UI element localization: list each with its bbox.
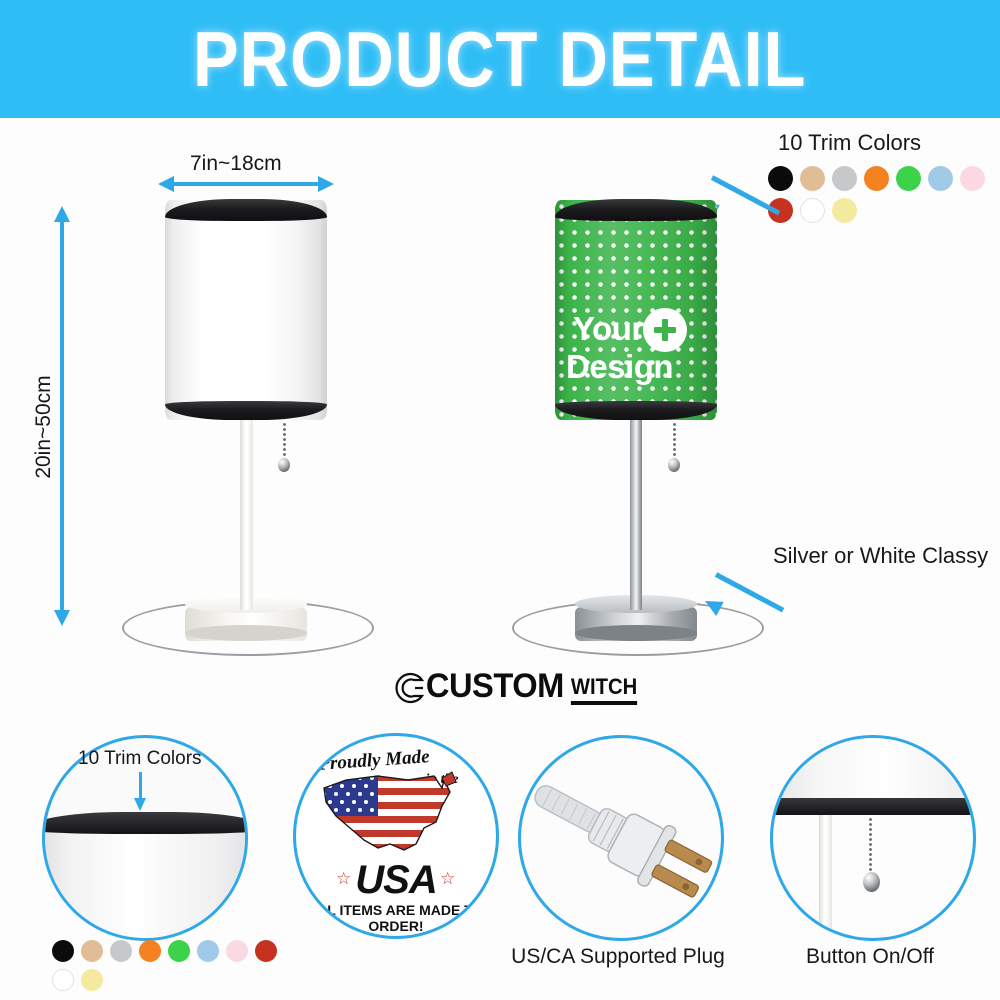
switch-pull-chain[interactable] — [869, 817, 872, 879]
trim-colors-top-label: 10 Trim Colors — [778, 130, 921, 156]
swatch-tan[interactable] — [81, 940, 103, 962]
logo-custom-text: CUSTOM — [426, 667, 564, 706]
brand-logo: CUSTOM WITCH — [392, 667, 640, 706]
swatch-pink[interactable] — [226, 940, 248, 962]
white-lamp-trim-top — [165, 199, 327, 221]
swatch-pink[interactable] — [960, 166, 985, 191]
swatch-green[interactable] — [168, 940, 190, 962]
swatch-orange[interactable] — [864, 166, 889, 191]
plus-icon — [643, 308, 687, 352]
swatch-yellow[interactable] — [81, 969, 103, 991]
swatch-gray[interactable] — [832, 166, 857, 191]
usa-star-left: ☆ — [336, 869, 351, 889]
logo-witch-text: WITCH — [571, 674, 637, 705]
switch-trim-band — [770, 798, 976, 815]
usa-line4: ALL ITEMS ARE MADE TO ORDER! — [296, 902, 496, 934]
swatch-yellow[interactable] — [832, 198, 857, 223]
feature-trim-band — [42, 812, 248, 834]
power-plug-icon — [521, 738, 721, 938]
swatch-orange[interactable] — [139, 940, 161, 962]
product-detail-page: PRODUCT DETAIL 10 Trim Colors 7in~18cm 2… — [0, 0, 1000, 1000]
swatch-black[interactable] — [768, 166, 793, 191]
height-dimension-label: 20in~50cm — [32, 347, 56, 507]
width-dimension-label: 7in~18cm — [190, 152, 282, 176]
switch-pole — [819, 815, 832, 938]
swatch-red[interactable] — [255, 940, 277, 962]
green-lamp-shade: Your Design — [555, 200, 717, 420]
feature-trim-colors-label: 10 Trim Colors — [78, 748, 202, 770]
usa-star-right: ☆ — [440, 869, 455, 889]
swatch-light-blue[interactable] — [928, 166, 953, 191]
header-banner: PRODUCT DETAIL — [0, 0, 1000, 118]
usa-line3: USA — [296, 858, 496, 903]
swatch-gray[interactable] — [110, 940, 132, 962]
swatch-light-blue[interactable] — [197, 940, 219, 962]
base-callout-label: Silver or White Classy — [773, 543, 988, 569]
swatch-tan[interactable] — [800, 166, 825, 191]
feature-switch — [770, 735, 976, 941]
feature-switch-label: Button On/Off — [760, 945, 980, 969]
switch-chain-ball[interactable] — [863, 872, 880, 892]
feature-plug — [518, 735, 724, 941]
white-lamp-chain-ball[interactable] — [278, 458, 290, 472]
green-lamp-trim-top — [555, 199, 717, 221]
page-title: PRODUCT DETAIL — [193, 20, 807, 98]
feature-made-in-usa: Proudly Made in the — [293, 733, 499, 939]
usa-map-icon — [316, 766, 476, 866]
white-lamp-shade — [165, 200, 327, 420]
swatch-black[interactable] — [52, 940, 74, 962]
green-lamp-pole — [630, 420, 642, 610]
swatch-white[interactable] — [800, 198, 825, 223]
green-lamp-chain-ball[interactable] — [668, 458, 680, 472]
trim-colors-top-swatches[interactable] — [768, 166, 1000, 223]
your-design-line2: Design — [566, 350, 673, 384]
swatch-white[interactable] — [52, 969, 74, 991]
feature-plug-label: US/CA Supported Plug — [498, 945, 738, 969]
swatch-green[interactable] — [896, 166, 921, 191]
white-lamp-pole — [240, 420, 253, 610]
trim-colors-bottom-swatches[interactable] — [52, 940, 302, 991]
custom-c-icon — [392, 671, 426, 705]
your-design-line1: Your — [573, 312, 644, 346]
